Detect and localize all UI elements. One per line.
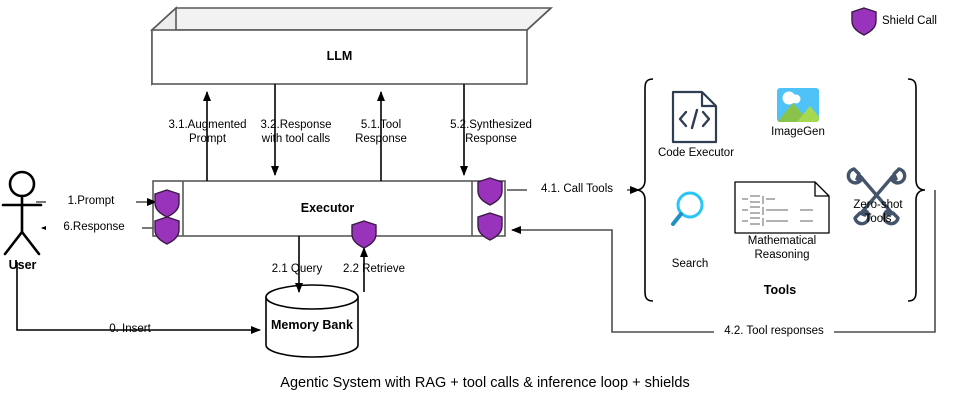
edge-insert	[17, 262, 260, 330]
tool-label-search: Search	[655, 258, 725, 271]
edge-label-call-tools: 4.1. Call Tools	[527, 183, 627, 196]
shield-legend-icon	[852, 8, 876, 35]
edge-label-retrieve: 2.2 Retrieve	[327, 263, 421, 276]
search-icon	[673, 193, 702, 224]
edge-label-prompt: 1.Prompt	[46, 195, 136, 208]
code-executor-icon	[673, 92, 716, 142]
tool-label-math-line2: Reasoning	[727, 249, 837, 262]
user-actor[interactable]	[3, 172, 41, 254]
edge-label-synthesized-response-line1: 5.2.Synthesized	[422, 119, 560, 132]
edge-label-insert: 0. Insert	[85, 323, 175, 336]
diagram-canvas: LLM Executor Memory Bank User Tools 0. I…	[0, 0, 970, 411]
tool-label-math-line1: Mathematical	[727, 235, 837, 248]
memory-bank-label: Memory Bank	[266, 318, 358, 332]
edge-label-tool-response-line1: 5.1.Tool	[329, 119, 433, 132]
edge-label-response: 6.Response	[46, 221, 142, 234]
shield-output-response-icon	[155, 217, 179, 244]
tool-label-zeroshot-line1: Zero-shot	[838, 199, 918, 212]
tool-label-zeroshot-line2: Tools	[838, 213, 918, 226]
math-document-icon	[735, 182, 829, 233]
tool-label-imagegen: ImageGen	[753, 126, 843, 139]
edge-label-tool-responses: 4.2. Tool responses	[714, 325, 834, 338]
user-label: User	[0, 258, 45, 272]
tool-label-code-executor: Code Executor	[641, 147, 751, 160]
edge-label-tool-response-line2: Response	[329, 133, 433, 146]
diagram-caption: Agentic System with RAG + tool calls & i…	[0, 375, 970, 391]
imagegen-icon	[777, 88, 819, 122]
tools-group-label: Tools	[715, 283, 845, 297]
legend-shield-call-label: Shield Call	[882, 15, 970, 28]
llm-label: LLM	[152, 49, 527, 63]
llm-node[interactable]	[152, 8, 551, 84]
executor-label: Executor	[183, 201, 472, 215]
edge-label-synthesized-response-line2: Response	[422, 133, 560, 146]
shield-memory-retrieve-icon	[352, 221, 376, 248]
